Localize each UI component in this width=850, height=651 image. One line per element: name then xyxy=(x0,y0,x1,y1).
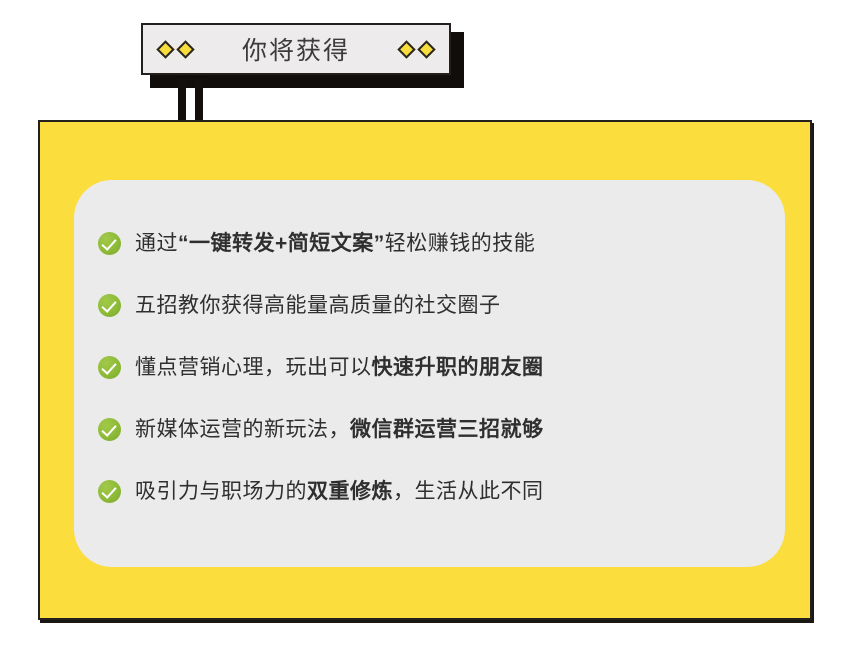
emphasis-text: “一键转发+简短文案” xyxy=(178,232,385,255)
connector-leg-right xyxy=(195,78,203,124)
list-item: 新媒体运营的新玩法，微信群运营三招就够 xyxy=(98,398,767,460)
diamond-icon xyxy=(156,40,174,58)
plain-text: 通过 xyxy=(135,232,178,255)
check-circle-icon xyxy=(98,480,121,503)
list-item-label: 通过“一键转发+简短文案”轻松赚钱的技能 xyxy=(135,233,535,254)
check-circle-icon xyxy=(98,418,121,441)
diamond-icon xyxy=(176,40,194,58)
benefits-card: 通过“一键转发+简短文案”轻松赚钱的技能五招教你获得高能量高质量的社交圈子懂点营… xyxy=(74,180,785,567)
list-item: 五招教你获得高能量高质量的社交圈子 xyxy=(98,274,767,336)
header-tab-box: 你将获得 xyxy=(141,23,451,75)
header-tab: 你将获得 xyxy=(141,23,455,79)
plain-text: 五招教你获得高能量高质量的社交圈子 xyxy=(135,294,501,317)
diamond-icon xyxy=(417,40,435,58)
plain-text: 懂点营销心理，玩出可以 xyxy=(135,356,372,379)
list-item-label: 吸引力与职场力的双重修炼，生活从此不同 xyxy=(135,481,544,502)
check-circle-icon xyxy=(98,232,121,255)
check-circle-icon xyxy=(98,356,121,379)
list-item: 吸引力与职场力的双重修炼，生活从此不同 xyxy=(98,460,767,522)
plain-text: 轻松赚钱的技能 xyxy=(385,232,536,255)
plain-text: ，生活从此不同 xyxy=(393,480,544,503)
emphasis-text: 双重修炼 xyxy=(307,480,393,503)
list-item-label: 懂点营销心理，玩出可以快速升职的朋友圈 xyxy=(135,357,544,378)
list-item: 通过“一键转发+简短文案”轻松赚钱的技能 xyxy=(98,212,767,274)
connector-leg-left xyxy=(178,78,186,124)
benefits-panel: 通过“一键转发+简短文案”轻松赚钱的技能五招教你获得高能量高质量的社交圈子懂点营… xyxy=(38,120,812,620)
diamond-icon xyxy=(397,40,415,58)
diamond-pair-right xyxy=(400,43,433,56)
list-item: 懂点营销心理，玩出可以快速升职的朋友圈 xyxy=(98,336,767,398)
poster-canvas: 你将获得 通过“一键转发+简短文案”轻松赚钱的技能五招教你获得高能量高质量的社交… xyxy=(0,0,850,651)
page-title: 你将获得 xyxy=(242,31,350,67)
check-circle-icon xyxy=(98,294,121,317)
diamond-pair-left xyxy=(159,43,192,56)
benefit-list: 通过“一键转发+简短文案”轻松赚钱的技能五招教你获得高能量高质量的社交圈子懂点营… xyxy=(98,212,767,522)
plain-text: 新媒体运营的新玩法， xyxy=(135,418,350,441)
list-item-label: 新媒体运营的新玩法，微信群运营三招就够 xyxy=(135,419,544,440)
emphasis-text: 快速升职的朋友圈 xyxy=(372,356,544,379)
list-item-label: 五招教你获得高能量高质量的社交圈子 xyxy=(135,295,501,316)
emphasis-text: 微信群运营三招就够 xyxy=(350,418,544,441)
plain-text: 吸引力与职场力的 xyxy=(135,480,307,503)
